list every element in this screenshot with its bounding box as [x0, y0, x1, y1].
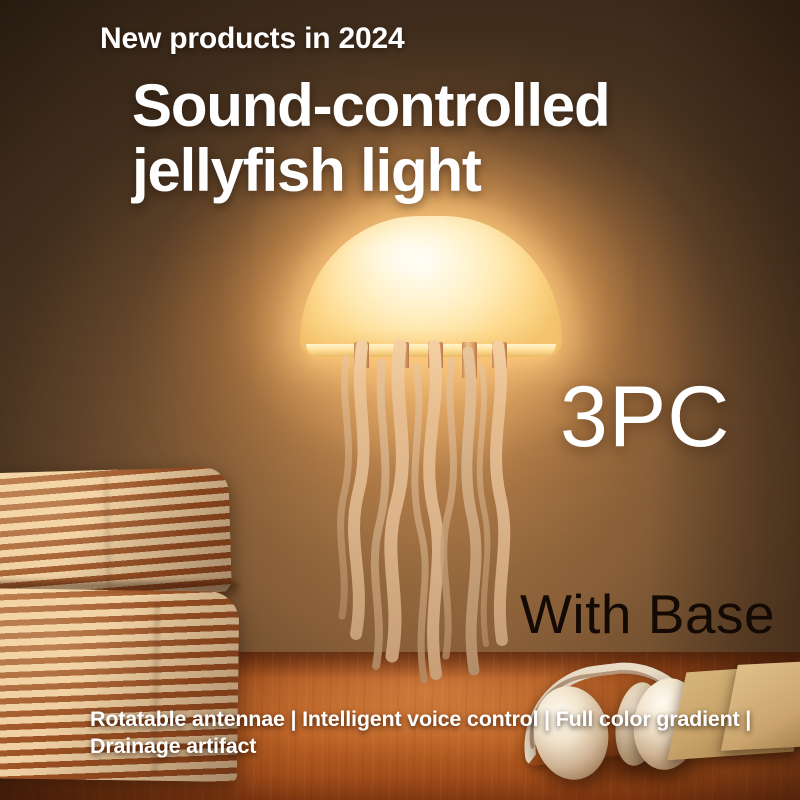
quantity-badge: 3PC	[560, 368, 730, 467]
product-poster: New products in 2024 Sound-controlled je…	[0, 0, 800, 800]
base-badge: With Base	[520, 582, 775, 646]
lamp-tentacles	[296, 344, 564, 706]
feature-list: Rotatable antennae | Intelligent voice c…	[90, 706, 760, 760]
headline-line-1: Sound-controlled	[132, 74, 609, 139]
headline-line-2: jellyfish light	[132, 139, 609, 204]
lamp-dome	[300, 216, 562, 358]
dome-highlight	[346, 228, 466, 280]
eyebrow-text: New products in 2024	[100, 22, 404, 56]
page-title: Sound-controlled jellyfish light	[132, 74, 609, 204]
wall-corner-seam	[650, 0, 800, 680]
